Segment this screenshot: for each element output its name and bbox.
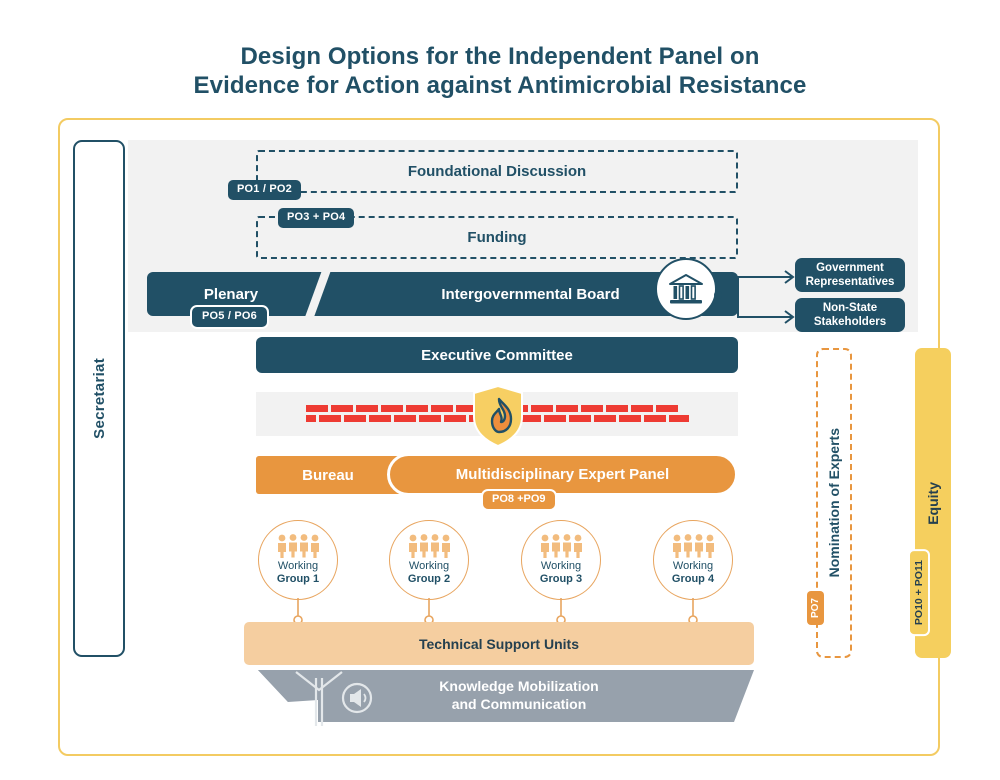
- bank-icon: [668, 273, 704, 305]
- working-group-people-icon: [671, 534, 715, 558]
- working-group-2-line-1: Working: [409, 560, 449, 573]
- government-representatives-line-1: Government: [816, 262, 884, 274]
- page-title: Design Options for the Independent Panel…: [0, 42, 1000, 100]
- working-group-3: Working Group 3: [521, 520, 601, 600]
- badge-po10-po11: PO10 + PO11: [908, 549, 930, 636]
- working-group-4-line-2: Group 4: [672, 573, 714, 586]
- working-group-2: Working Group 2: [389, 520, 469, 600]
- equity-label: Equity: [925, 482, 941, 525]
- working-group-1-line-1: Working: [278, 560, 318, 573]
- bank-to-stakeholders-connectors: [712, 255, 804, 335]
- page-title-line-2: Evidence for Action against Antimicrobia…: [0, 71, 1000, 100]
- executive-committee-box: Executive Committee: [256, 337, 738, 373]
- technical-support-units-label: Technical Support Units: [419, 636, 579, 652]
- executive-committee-label: Executive Committee: [421, 347, 573, 364]
- badge-po1-po2: PO1 / PO2: [228, 180, 301, 200]
- knowledge-mobilization-line-1: Knowledge Mobilization: [439, 677, 598, 695]
- working-group-people-icon: [539, 534, 583, 558]
- secretariat-panel: Secretariat: [73, 140, 125, 657]
- secretariat-label: Secretariat: [91, 358, 108, 439]
- working-group-4: Working Group 4: [653, 520, 733, 600]
- working-group-2-line-2: Group 2: [408, 573, 450, 586]
- knowledge-mobilization-banner: Knowledge Mobilization and Communication: [244, 668, 754, 730]
- badge-po3-po4: PO3 + PO4: [278, 208, 354, 228]
- foundational-discussion-label: Foundational Discussion: [408, 163, 586, 180]
- non-state-stakeholders-line-1: Non-State: [823, 302, 877, 314]
- badge-po5-po6: PO5 / PO6: [190, 305, 269, 329]
- working-group-3-line-2: Group 3: [540, 573, 582, 586]
- non-state-stakeholders-line-2: Stakeholders: [814, 316, 886, 328]
- working-group-4-line-1: Working: [673, 560, 713, 573]
- working-group-people-icon: [407, 534, 451, 558]
- government-representatives-line-2: Representatives: [806, 276, 895, 288]
- non-state-stakeholders-box: Non-State Stakeholders: [795, 298, 905, 332]
- foundational-discussion-box: Foundational Discussion: [256, 150, 738, 193]
- nomination-of-experts-label: Nomination of Experts: [826, 428, 842, 577]
- page-title-line-1: Design Options for the Independent Panel…: [0, 42, 1000, 71]
- bank-icon-circle: [655, 258, 717, 320]
- government-representatives-box: Government Representatives: [795, 258, 905, 292]
- funding-label: Funding: [467, 229, 526, 246]
- firewall-shield-flame-icon: [472, 385, 524, 447]
- bureau-label: Bureau: [302, 467, 354, 484]
- working-group-1: Working Group 1: [258, 520, 338, 600]
- working-group-1-line-2: Group 1: [277, 573, 319, 586]
- working-group-3-line-1: Working: [541, 560, 581, 573]
- badge-po8-po9: PO8 +PO9: [481, 489, 557, 511]
- expert-panel-label: Multidisciplinary Expert Panel: [456, 466, 669, 483]
- technical-support-units-box: Technical Support Units: [244, 622, 754, 665]
- badge-po7: PO7: [807, 591, 824, 625]
- multidisciplinary-expert-panel-box: Multidisciplinary Expert Panel: [387, 453, 738, 496]
- knowledge-mobilization-line-2: and Communication: [452, 695, 587, 713]
- working-group-people-icon: [276, 534, 320, 558]
